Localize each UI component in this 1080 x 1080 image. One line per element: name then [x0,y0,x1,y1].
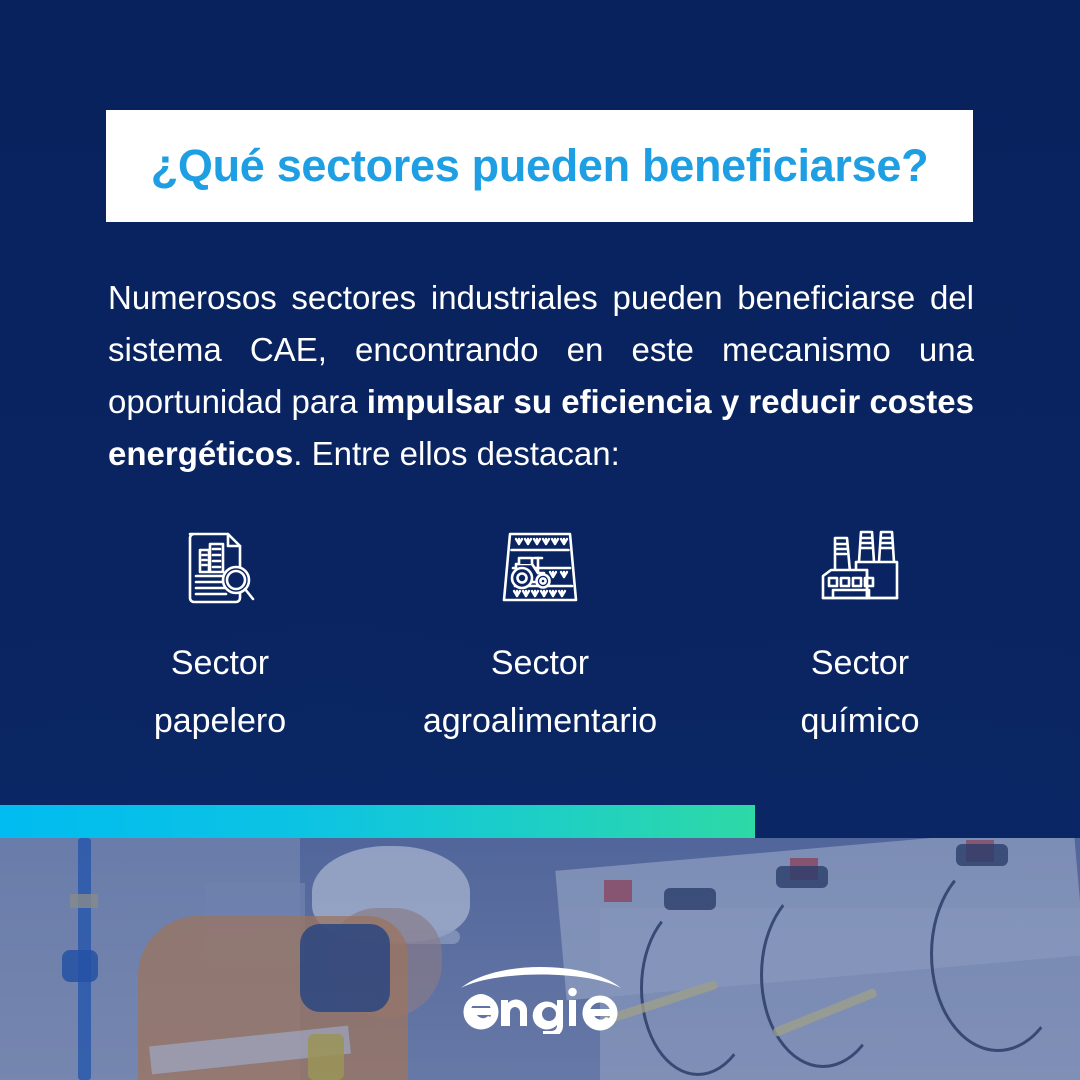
document-magnifier-icon [176,520,264,612]
sector-label-line2: papelero [154,702,286,740]
factory-icon [813,520,907,612]
engie-logo [455,962,627,1034]
body-paragraph: Numerosos sectores industriales pueden b… [108,272,974,480]
gradient-accent-bar [0,805,755,838]
page-title: ¿Qué sectores pueden beneficiarse? [151,140,929,192]
sector-label-papelero: Sector papelero [154,634,286,750]
sector-label-line2: agroalimentario [423,702,657,740]
sector-item-agroalimentario: Sector agroalimentario [380,520,700,750]
photo-blue-tint [0,838,1080,1080]
sector-item-quimico: Sector químico [700,520,1020,750]
title-banner: ¿Qué sectores pueden beneficiarse? [106,110,973,222]
body-text-part2: . Entre ellos destacan: [293,435,620,472]
sector-label-line2: químico [800,702,919,740]
sector-label-agroalimentario: Sector agroalimentario [423,634,657,750]
sector-label-line1: Sector [171,644,269,682]
tractor-field-icon [494,520,586,612]
footer-photo [0,838,1080,1080]
sector-label-line1: Sector [811,644,909,682]
sector-label-quimico: Sector químico [800,634,919,750]
poster-canvas: ¿Qué sectores pueden beneficiarse? Numer… [0,0,1080,1080]
sector-list: Sector papelero [60,520,1020,750]
sector-label-line1: Sector [491,644,589,682]
sector-item-papelero: Sector papelero [60,520,380,750]
